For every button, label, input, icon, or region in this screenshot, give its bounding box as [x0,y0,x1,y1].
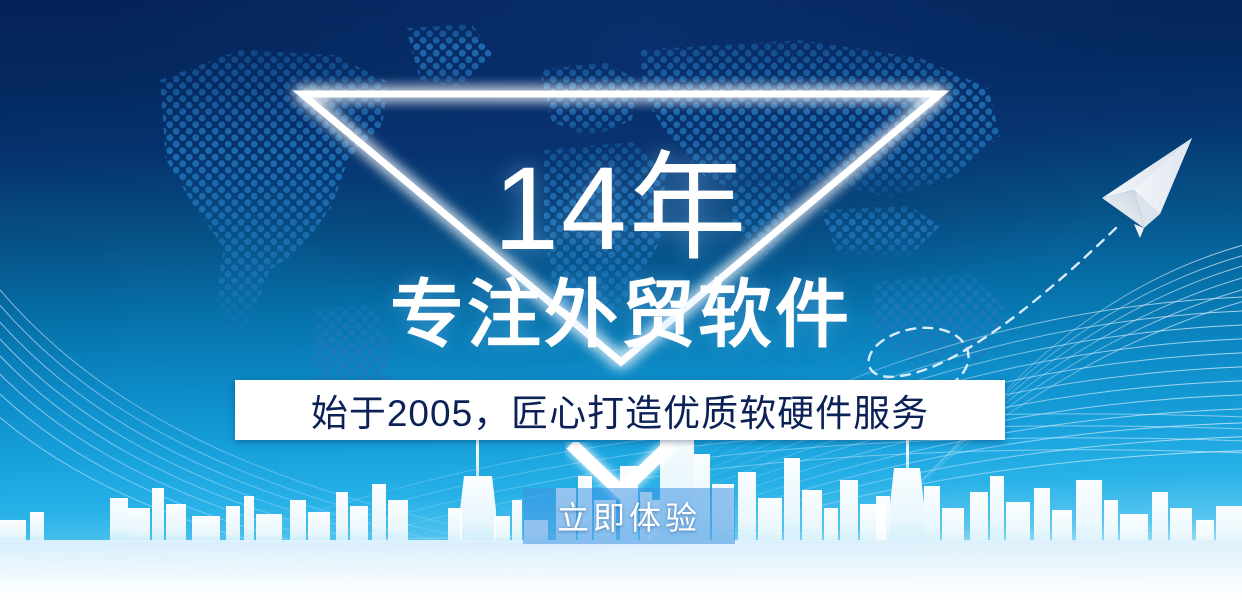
cta-label: 立即体验 [557,493,701,539]
headline-main: 专注外贸软件 [0,278,1242,352]
subtitle-box: 始于2005，匠心打造优质软硬件服务 [235,380,1005,440]
subtitle-text: 始于2005，匠心打造优质软硬件服务 [311,383,929,437]
headline-years: 14年 [0,150,1242,268]
cta-button[interactable]: 立即体验 [523,488,735,544]
promo-banner: 14年 专注外贸软件 始于2005，匠心打造优质软硬件服务 立即体验 [0,0,1242,600]
